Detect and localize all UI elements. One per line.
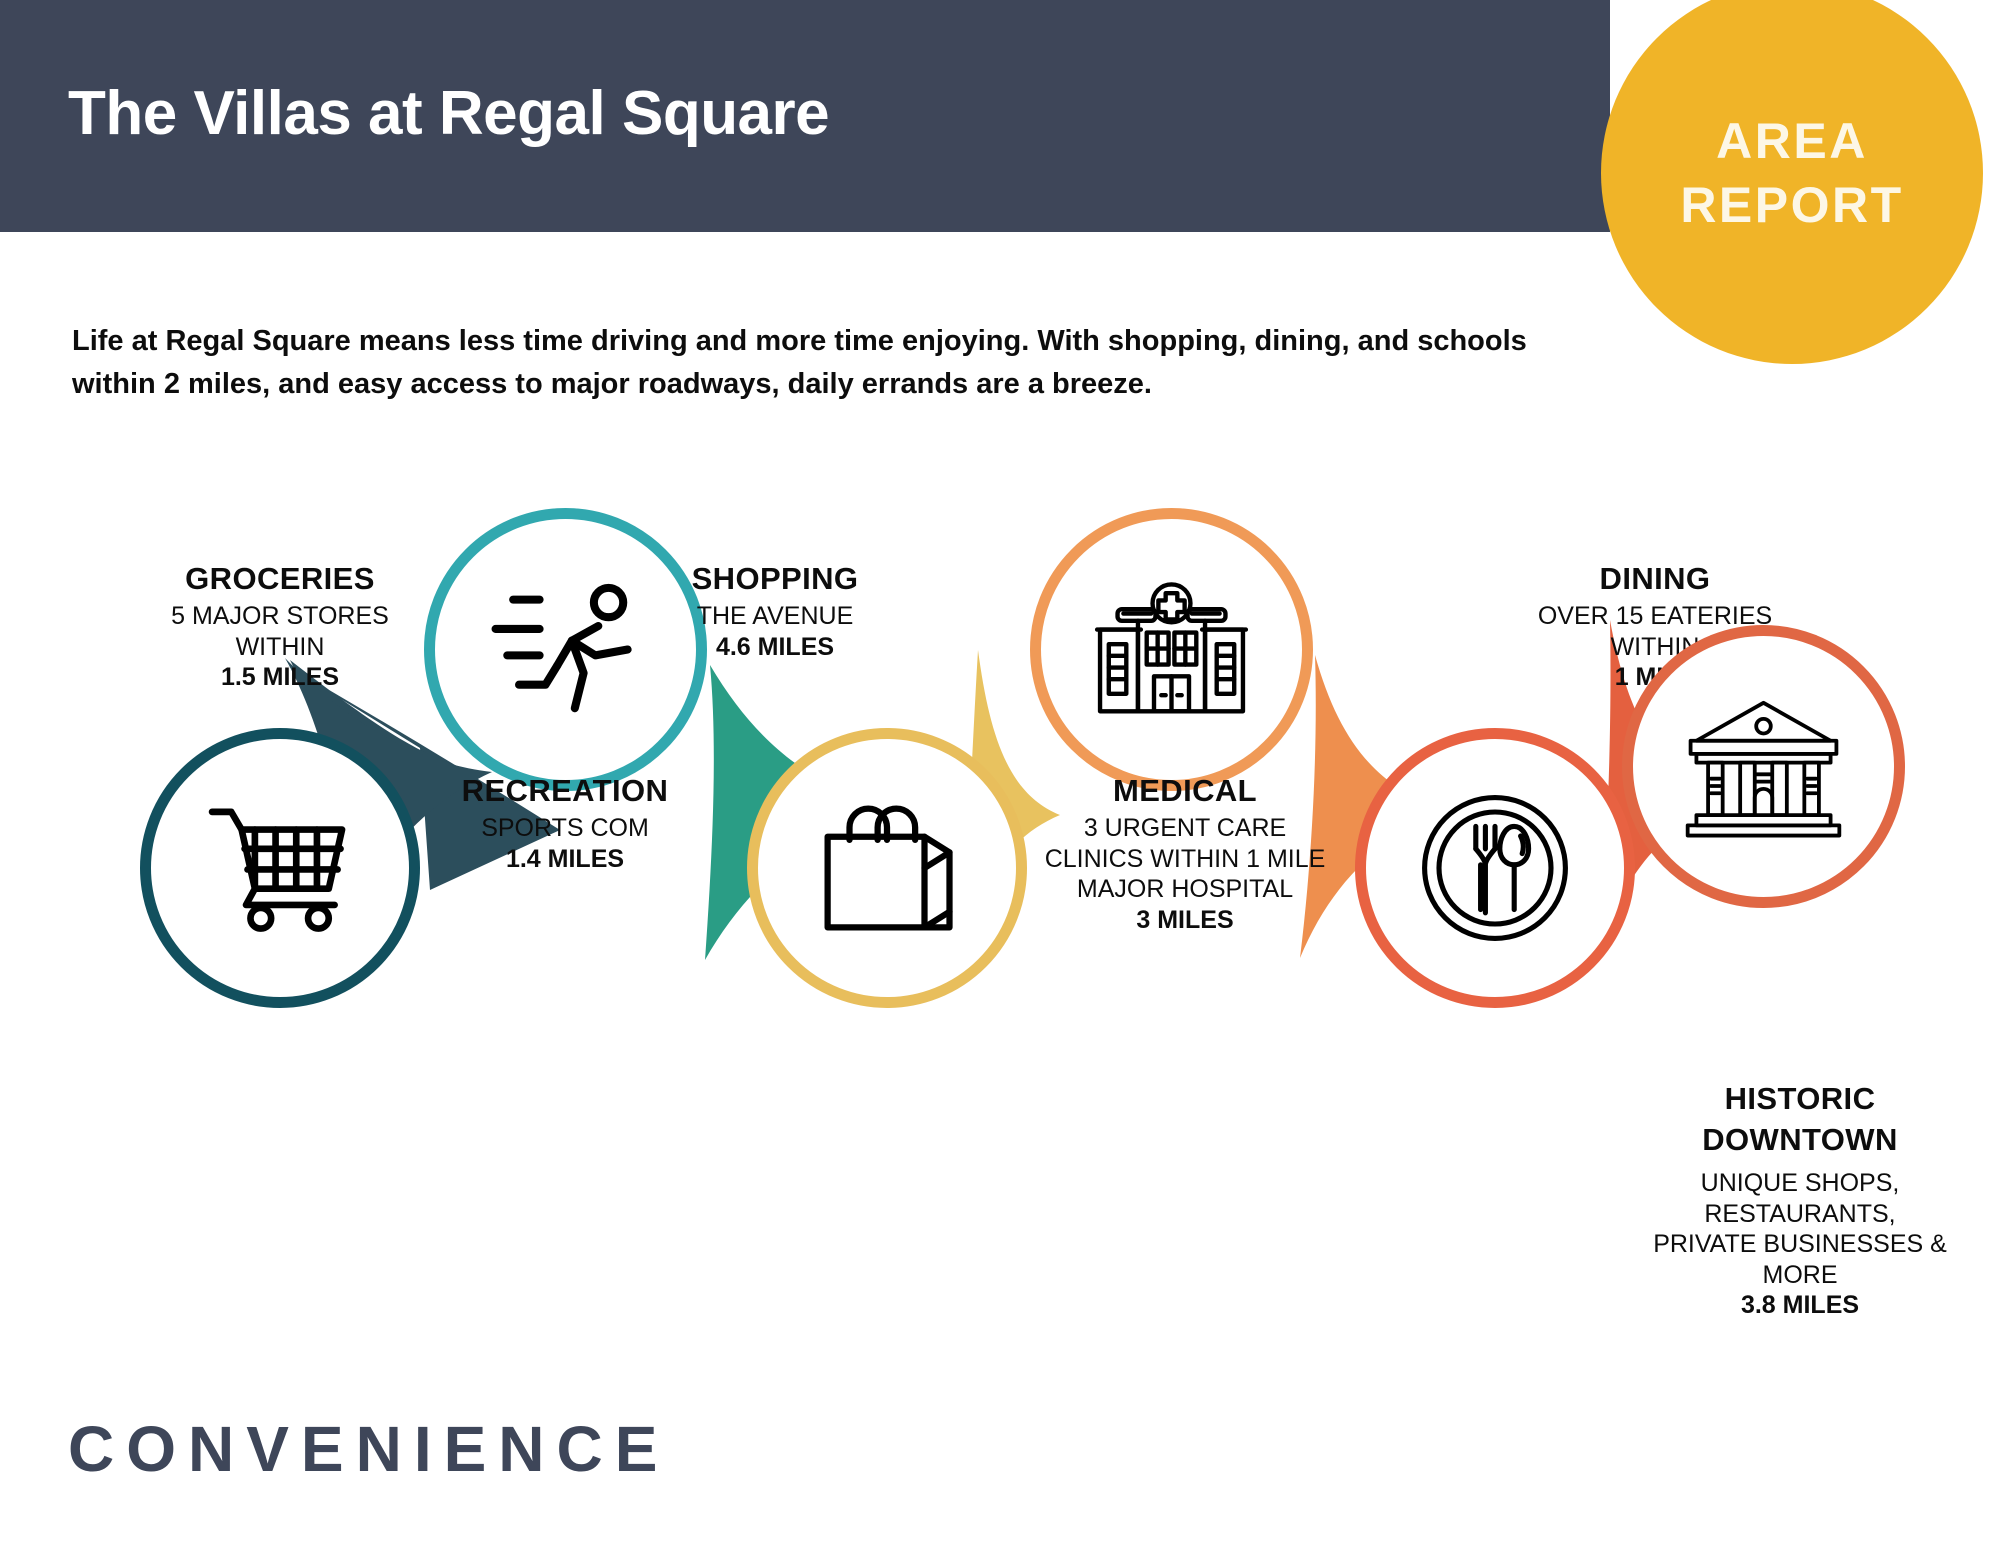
node-title-historic-downtown-2: DOWNTOWN: [1590, 1121, 2000, 1158]
convenience-diagram: GROCERIES 5 MAJOR STORES WITHIN 1.5 MILE…: [0, 560, 2000, 1380]
node-label-shopping: SHOPPING THE AVENUE 4.6 MILES: [615, 560, 935, 663]
node-detail-downtown-4: MORE: [1590, 1260, 2000, 1291]
node-detail-medical-2: CLINICS WITHIN 1 MILE: [1020, 844, 1350, 875]
classical-building-icon: [1676, 692, 1851, 842]
footer-word-convenience: CONVENIENCE: [68, 1412, 669, 1486]
node-label-historic-downtown: HISTORIC DOWNTOWN UNIQUE SHOPS, RESTAURA…: [1590, 1080, 2000, 1322]
node-label-medical: MEDICAL 3 URGENT CARE CLINICS WITHIN 1 M…: [1020, 772, 1350, 936]
node-detail-downtown-2: RESTAURANTS,: [1590, 1199, 2000, 1230]
shopping-cart-icon: [205, 803, 355, 933]
node-title-recreation: RECREATION: [400, 772, 730, 809]
node-detail-downtown-3: PRIVATE BUSINESSES &: [1590, 1229, 2000, 1260]
area-report-badge: AREA REPORT: [1601, 0, 1983, 364]
node-detail-shopping-1: THE AVENUE: [615, 601, 935, 632]
badge-line-area: AREA: [1716, 116, 1868, 166]
node-distance-groceries: 1.5 MILES: [130, 662, 430, 693]
node-label-groceries: GROCERIES 5 MAJOR STORES WITHIN 1.5 MILE…: [130, 560, 430, 693]
intro-paragraph: Life at Regal Square means less time dri…: [72, 320, 1602, 406]
node-title-shopping: SHOPPING: [615, 560, 935, 597]
plate-fork-spoon-icon: [1415, 788, 1575, 948]
hospital-building-icon: [1084, 580, 1259, 720]
node-circle-shopping[interactable]: [747, 728, 1027, 1008]
node-detail-downtown-1: UNIQUE SHOPS,: [1590, 1168, 2000, 1199]
node-distance-recreation: 1.4 MILES: [400, 844, 730, 875]
node-title-groceries: GROCERIES: [130, 560, 430, 597]
node-circle-medical[interactable]: [1030, 508, 1313, 791]
node-title-historic-downtown-1: HISTORIC: [1590, 1080, 2000, 1117]
shopping-bag-icon: [812, 793, 962, 943]
node-distance-downtown: 3.8 MILES: [1590, 1290, 2000, 1321]
page-title: The Villas at Regal Square: [68, 78, 829, 149]
infographic-page: The Villas at Regal Square AREA REPORT L…: [0, 0, 2000, 1545]
node-title-medical: MEDICAL: [1020, 772, 1350, 809]
node-detail-groceries-1: 5 MAJOR STORES: [130, 601, 430, 632]
node-distance-medical: 3 MILES: [1020, 905, 1350, 936]
node-label-recreation: RECREATION SPORTS COM 1.4 MILES: [400, 772, 730, 875]
node-circle-historic-downtown[interactable]: [1622, 625, 1905, 908]
node-distance-shopping: 4.6 MILES: [615, 632, 935, 663]
node-circle-dining[interactable]: [1355, 728, 1635, 1008]
node-detail-recreation-1: SPORTS COM: [400, 813, 730, 844]
node-detail-groceries-2: WITHIN: [130, 632, 430, 663]
node-detail-medical-3: MAJOR HOSPITAL: [1020, 874, 1350, 905]
node-detail-medical-1: 3 URGENT CARE: [1020, 813, 1350, 844]
badge-line-report: REPORT: [1680, 180, 1903, 230]
node-circle-groceries[interactable]: [140, 728, 420, 1008]
node-title-dining: DINING: [1490, 560, 1820, 597]
